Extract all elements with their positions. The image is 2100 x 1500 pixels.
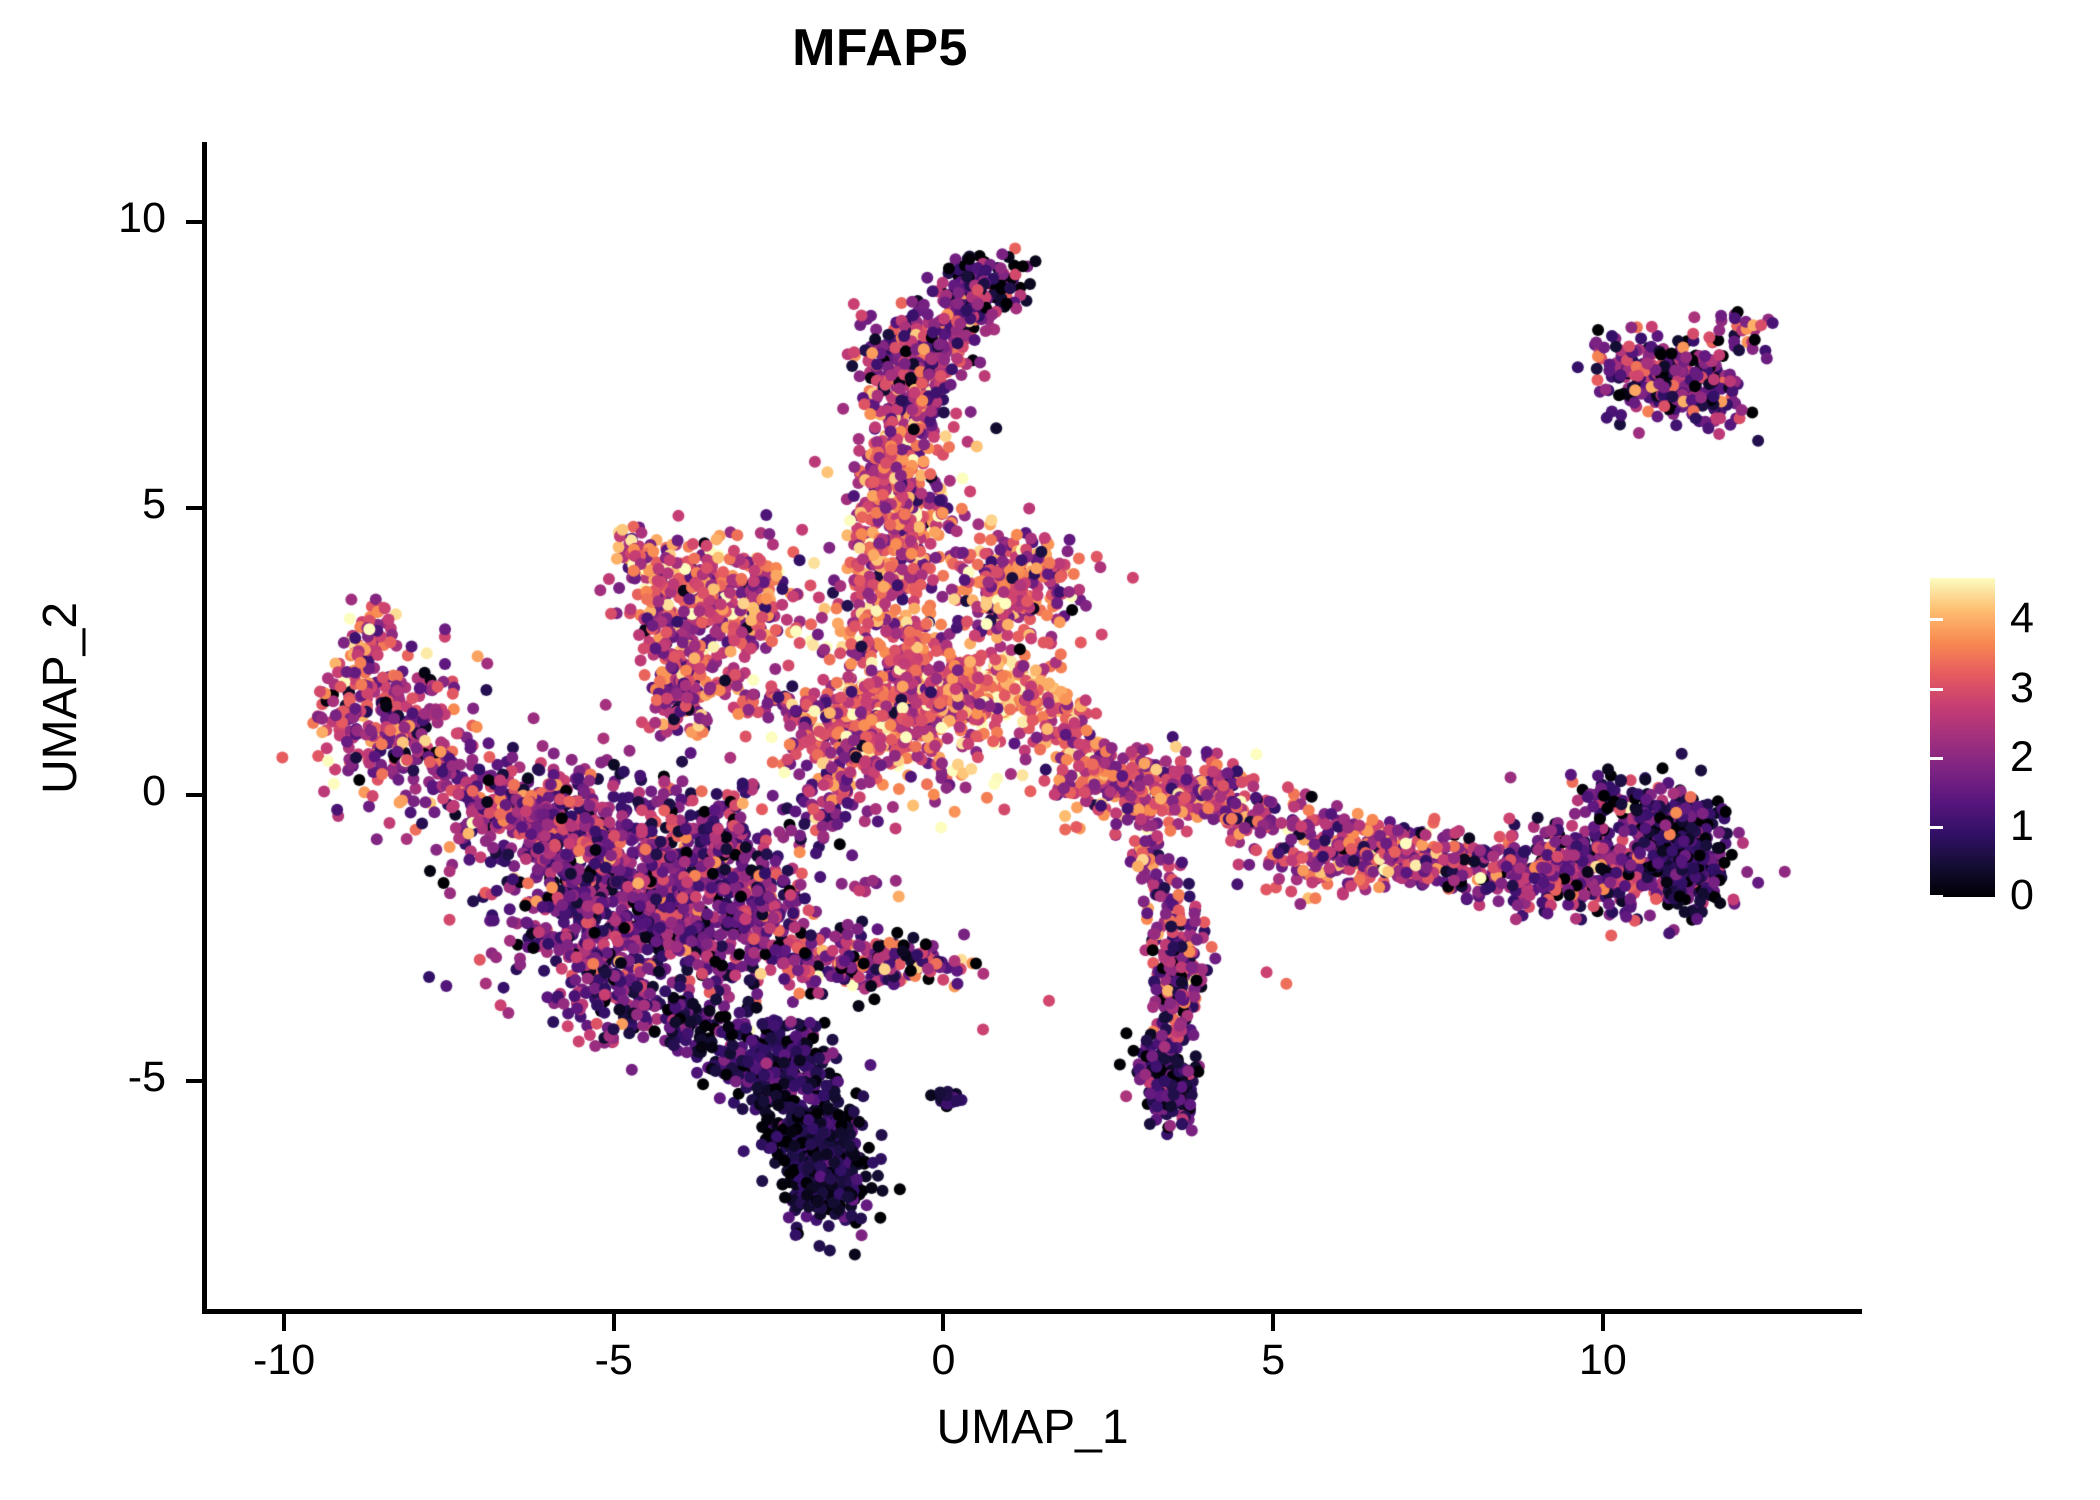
x-ticklabel-10: 10 xyxy=(1503,1338,1703,1383)
colorbar-label-2: 2 xyxy=(2010,736,2034,779)
y-axis-label-wrapper: UMAP_2 xyxy=(31,318,91,1078)
x-tick--10 xyxy=(282,1314,286,1331)
colorbar-label-4: 4 xyxy=(2010,597,2034,640)
colorbar-label-3: 3 xyxy=(2010,667,2034,710)
x-axis-label: UMAP_1 xyxy=(205,1400,1860,1455)
x-tick-0 xyxy=(941,1314,945,1331)
colorbar-label-1: 1 xyxy=(2010,805,2034,848)
scatter-plot-canvas xyxy=(205,142,1860,1310)
colorbar-legend: 01234 xyxy=(1930,578,2090,908)
y-axis-label: UMAP_2 xyxy=(31,318,91,1078)
page-title: MFAP5 xyxy=(0,22,1760,74)
colorbar-tick-0 xyxy=(1930,895,1943,898)
x-tick--5 xyxy=(612,1314,616,1331)
y-tick-10 xyxy=(186,220,203,224)
colorbar-tick-3 xyxy=(2077,688,2090,691)
plot-panel xyxy=(205,142,1860,1310)
x-axis-line xyxy=(202,1309,1862,1314)
colorbar-tick-1 xyxy=(2077,826,2090,829)
x-ticklabel-0: 0 xyxy=(843,1338,1043,1383)
chart-root: MFAP5 -10-50510 -50510 UMAP_1 UMAP_2 012… xyxy=(0,0,2100,1500)
y-tick-5 xyxy=(186,506,203,510)
x-tick-5 xyxy=(1271,1314,1275,1331)
colorbar-tick-4 xyxy=(2077,618,2090,621)
colorbar-gradient xyxy=(1930,578,1995,897)
colorbar-tick-3 xyxy=(1930,688,1943,691)
y-tick--5 xyxy=(186,1079,203,1083)
x-ticklabel--5: -5 xyxy=(514,1338,714,1383)
colorbar-tick-1 xyxy=(1930,826,1943,829)
x-ticklabel-5: 5 xyxy=(1173,1338,1373,1383)
colorbar-tick-2 xyxy=(2077,757,2090,760)
x-ticklabel--10: -10 xyxy=(184,1338,384,1383)
y-tick-0 xyxy=(186,793,203,797)
y-axis-line xyxy=(202,142,207,1314)
x-tick-10 xyxy=(1601,1314,1605,1331)
colorbar-tick-0 xyxy=(2077,895,2090,898)
colorbar-tick-2 xyxy=(1930,757,1943,760)
colorbar-tick-4 xyxy=(1930,618,1943,621)
y-ticklabel-10: 10 xyxy=(0,196,166,241)
colorbar-label-0: 0 xyxy=(2010,874,2034,917)
